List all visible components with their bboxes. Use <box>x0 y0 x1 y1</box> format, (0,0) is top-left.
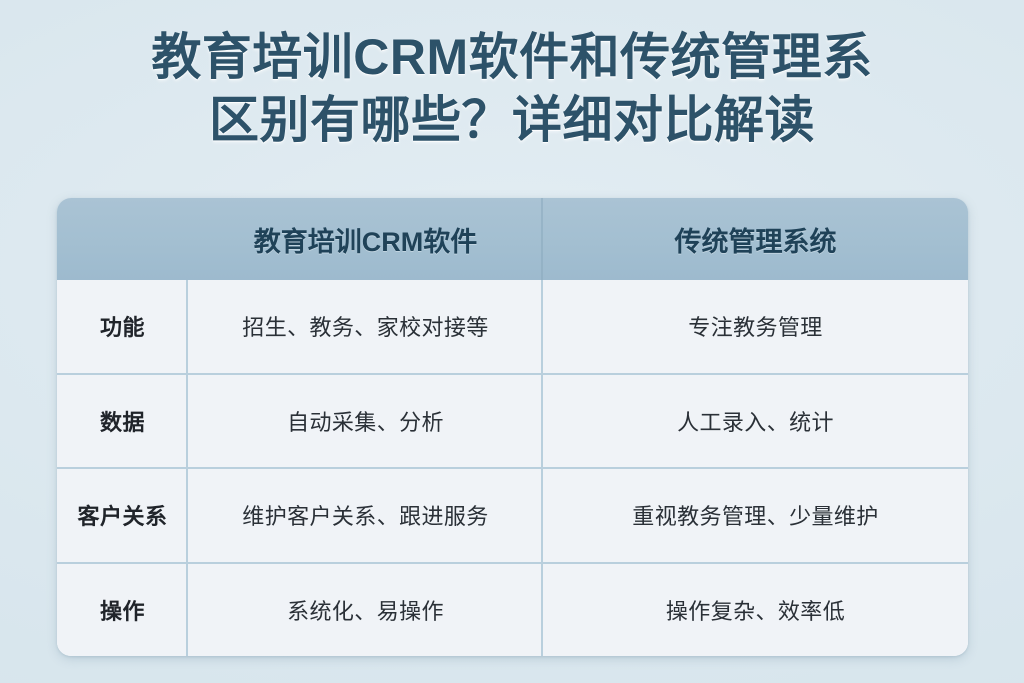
table-row: 客户关系 维护客户关系、跟进服务 重视教务管理、少量维护 <box>57 467 968 562</box>
table-cell-legacy: 操作复杂、效率低 <box>543 564 968 657</box>
row-legacy-text: 操作复杂、效率低 <box>666 594 845 626</box>
page-title: 教育培训CRM软件和传统管理系 区别有哪些？详细对比解读 <box>0 26 1024 152</box>
row-label-text: 操作 <box>100 594 145 626</box>
table-cell-crm: 维护客户关系、跟进服务 <box>188 469 543 562</box>
table-row: 数据 自动采集、分析 人工录入、统计 <box>57 373 968 468</box>
table-cell-crm: 自动采集、分析 <box>188 375 543 468</box>
row-label-text: 功能 <box>100 310 145 342</box>
table-row: 操作 系统化、易操作 操作复杂、效率低 <box>57 562 968 657</box>
table-cell-crm: 招生、教务、家校对接等 <box>188 280 543 373</box>
table-cell-legacy: 专注教务管理 <box>543 280 968 373</box>
comparison-table: 教育培训CRM软件 传统管理系统 功能 招生、教务、家校对接等 专注教务管理 数… <box>57 198 968 656</box>
row-legacy-text: 专注教务管理 <box>688 310 822 342</box>
table-cell-legacy: 人工录入、统计 <box>543 375 968 468</box>
row-crm-text: 招生、教务、家校对接等 <box>242 310 488 342</box>
page-title-line-2: 区别有哪些？详细对比解读 <box>42 89 982 152</box>
table-row: 功能 招生、教务、家校对接等 专注教务管理 <box>57 280 968 373</box>
row-crm-text: 系统化、易操作 <box>287 594 444 626</box>
table-header-row: 教育培训CRM软件 传统管理系统 <box>57 198 968 280</box>
table-header-cell-label <box>57 198 188 280</box>
row-crm-text: 维护客户关系、跟进服务 <box>242 499 488 531</box>
table-cell-label: 功能 <box>57 280 188 373</box>
row-label-text: 客户关系 <box>77 499 167 531</box>
row-crm-text: 自动采集、分析 <box>287 405 444 437</box>
table-header-cell-legacy: 传统管理系统 <box>543 198 968 280</box>
table-cell-legacy: 重视教务管理、少量维护 <box>543 469 968 562</box>
table-body: 功能 招生、教务、家校对接等 专注教务管理 数据 自动采集、分析 人工录入、统计… <box>57 280 968 656</box>
row-legacy-text: 重视教务管理、少量维护 <box>632 499 878 531</box>
row-label-text: 数据 <box>100 405 145 437</box>
page-title-line-1: 教育培训CRM软件和传统管理系 <box>42 26 982 89</box>
table-cell-label: 客户关系 <box>57 469 188 562</box>
row-legacy-text: 人工录入、统计 <box>677 405 834 437</box>
table-cell-crm: 系统化、易操作 <box>188 564 543 657</box>
table-cell-label: 数据 <box>57 375 188 468</box>
table-cell-label: 操作 <box>57 564 188 657</box>
table-header-cell-crm: 教育培训CRM软件 <box>188 198 543 280</box>
